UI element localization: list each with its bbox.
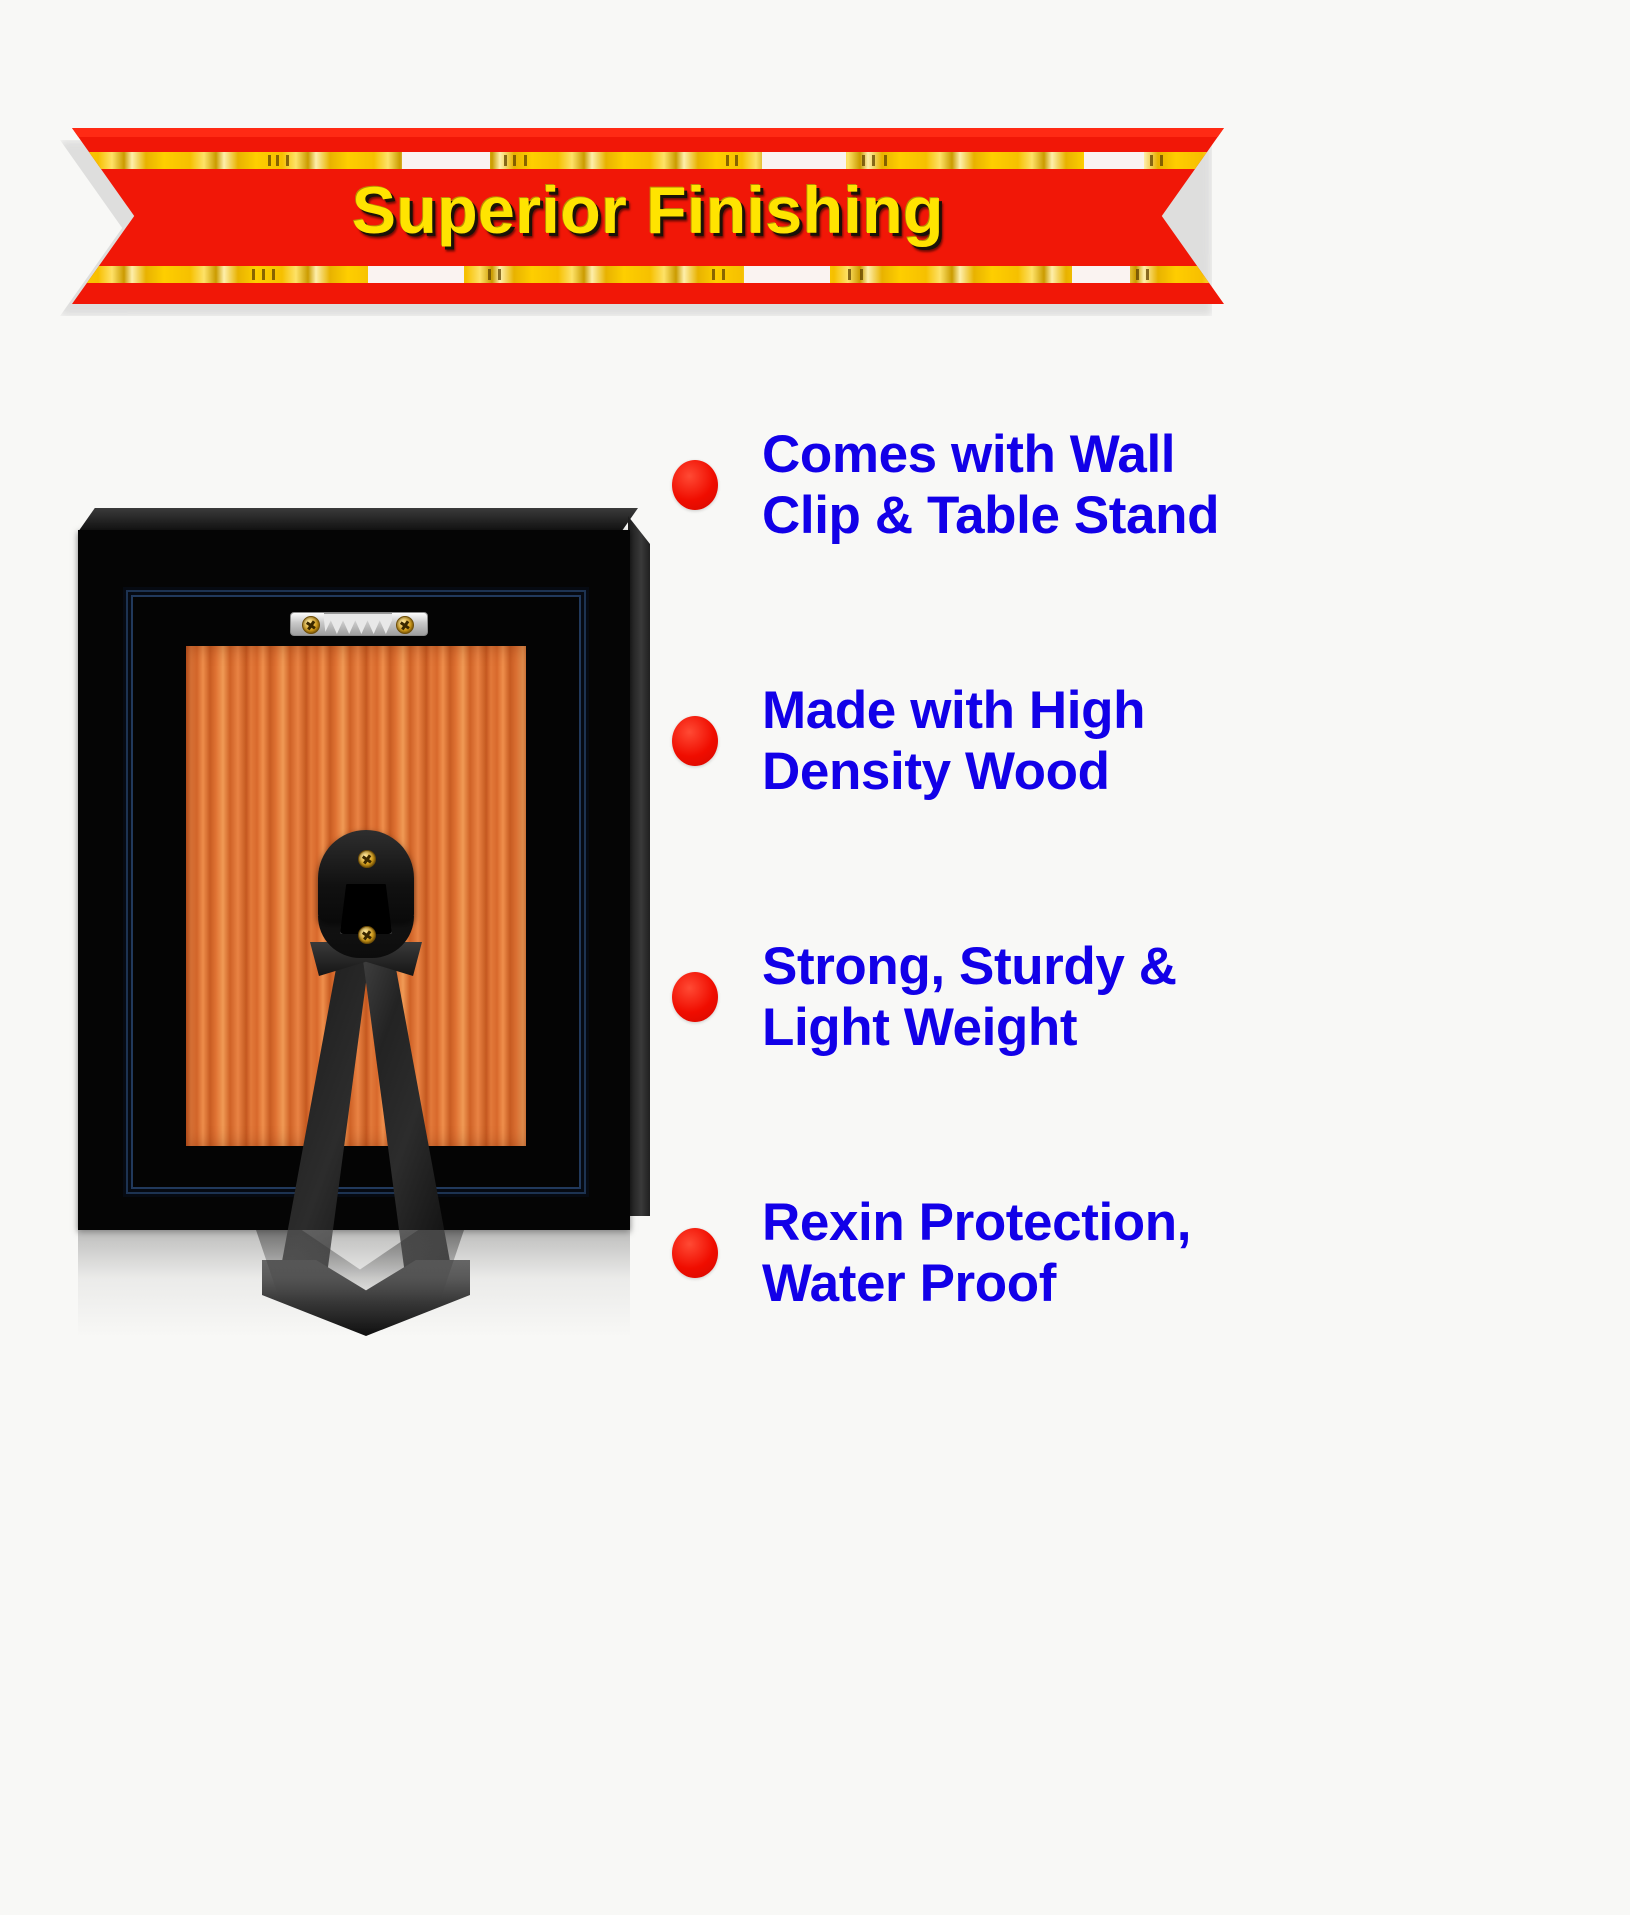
- product-photo: [70, 508, 650, 1338]
- feature-item: Comes with Wall Clip & Table Stand: [672, 420, 1572, 550]
- banner-top-highlight: [72, 128, 1224, 137]
- feature-line: Strong, Sturdy &: [762, 936, 1177, 997]
- feature-text: Strong, Sturdy & Light Weight: [762, 936, 1177, 1059]
- feature-text: Rexin Protection, Water Proof: [762, 1192, 1191, 1315]
- feature-line: Comes with Wall: [762, 424, 1219, 485]
- feature-text: Made with High Density Wood: [762, 680, 1145, 803]
- bullet-dot-icon: [672, 716, 718, 766]
- feature-line: Water Proof: [762, 1253, 1191, 1314]
- banner-gold-stripe-bottom: [72, 266, 1224, 283]
- plaque-front-face: [78, 530, 630, 1230]
- bullet-dot-icon: [672, 1228, 718, 1278]
- feature-list: Comes with Wall Clip & Table Stand Made …: [672, 420, 1572, 1318]
- feature-text: Comes with Wall Clip & Table Stand: [762, 424, 1219, 547]
- bullet-dot-icon: [672, 460, 718, 510]
- sawtooth-hanger-icon: [290, 610, 426, 636]
- plaque-top-bevel: [78, 508, 638, 532]
- feature-item: Rexin Protection, Water Proof: [672, 1188, 1572, 1318]
- screw-icon: [358, 850, 376, 868]
- feature-line: Light Weight: [762, 997, 1177, 1058]
- feature-line: Made with High: [762, 680, 1145, 741]
- header-banner: Superior Finishing: [72, 128, 1224, 304]
- bullet-dot-icon: [672, 972, 718, 1022]
- feature-item: Strong, Sturdy & Light Weight: [672, 932, 1572, 1062]
- screw-icon: [358, 926, 376, 944]
- banner-title: Superior Finishing: [72, 172, 1224, 248]
- plaque-side-bevel: [628, 516, 650, 1216]
- screw-icon: [396, 616, 414, 634]
- feature-line: Rexin Protection,: [762, 1192, 1191, 1253]
- feature-line: Density Wood: [762, 741, 1145, 802]
- feature-line: Clip & Table Stand: [762, 485, 1219, 546]
- feature-item: Made with High Density Wood: [672, 676, 1572, 806]
- screw-icon: [302, 616, 320, 634]
- banner-ribbon-shape: Superior Finishing: [72, 128, 1224, 304]
- banner-gold-stripe-top: [72, 152, 1224, 169]
